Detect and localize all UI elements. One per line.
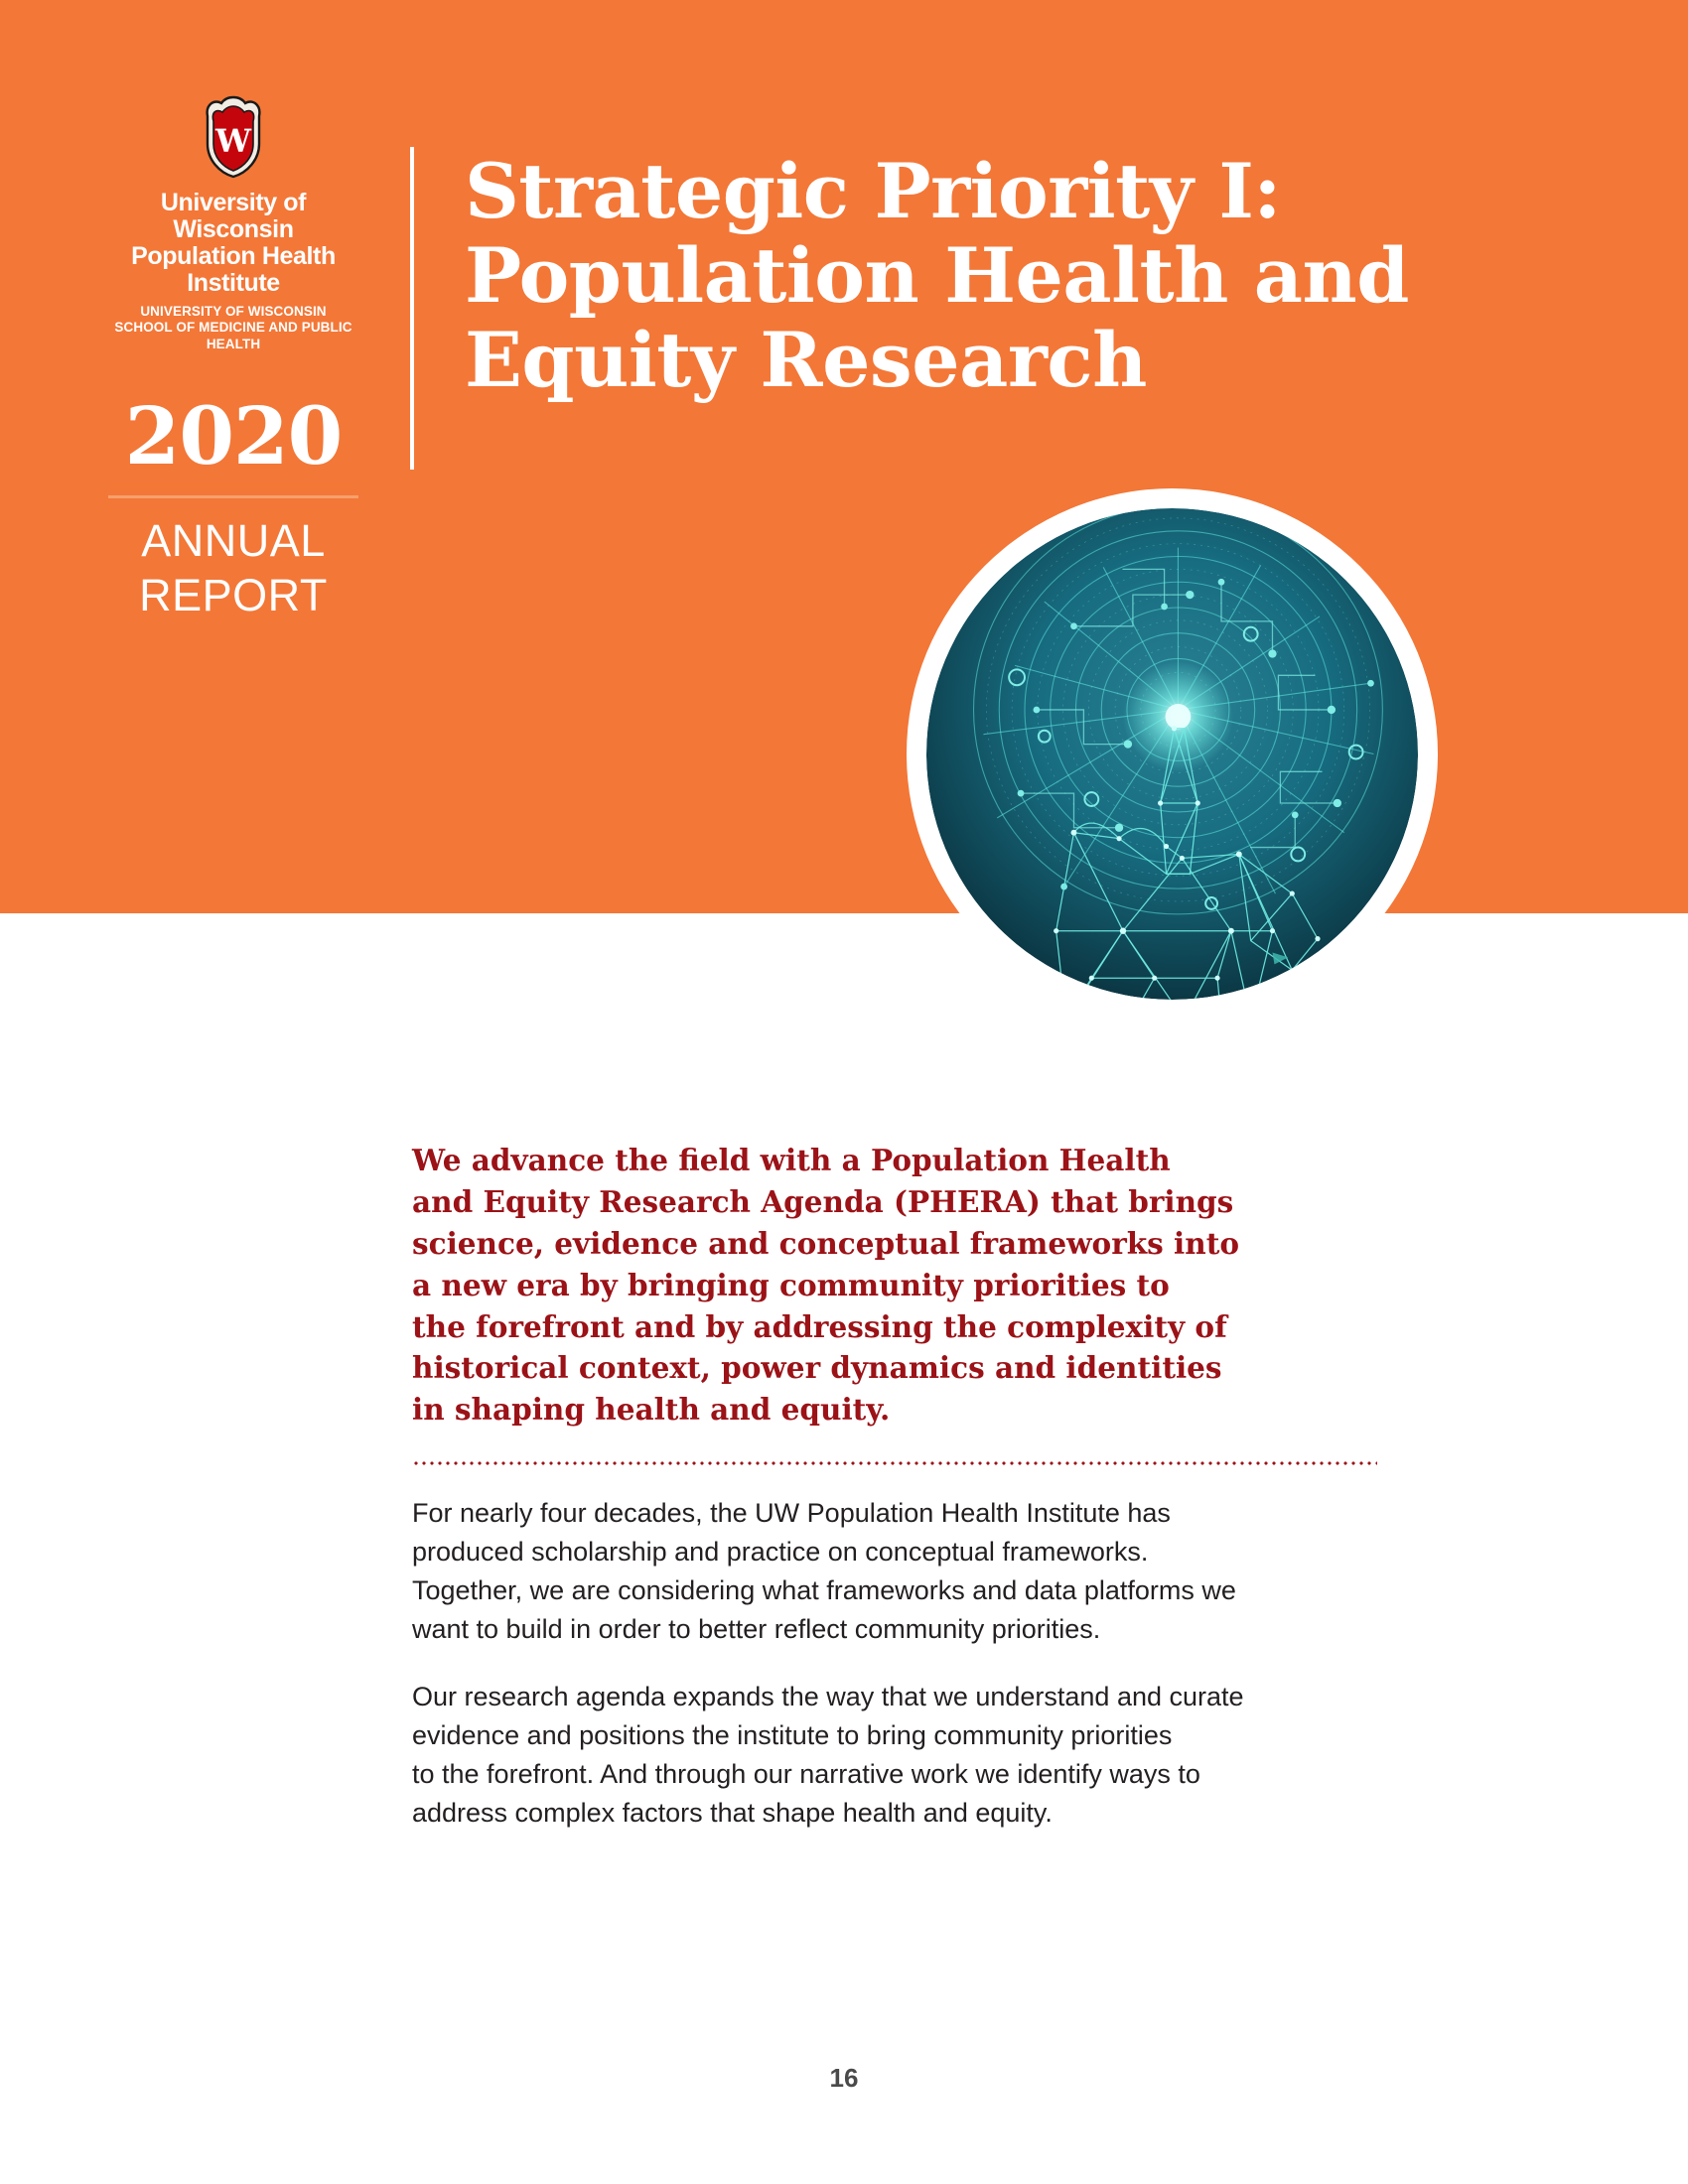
paragraph-1-line-4: want to build in order to better reflect… [412,1610,1370,1649]
pull-quote-line-3: science, evidence and conceptual framewo… [412,1223,1355,1265]
brand-sub-line-1: UNIVERSITY OF WISCONSIN [99,304,367,320]
pull-quote-line-2: and Equity Research Agenda (PHERA) that … [412,1181,1355,1223]
pull-quote-line-5: the forefront and by addressing the comp… [412,1306,1355,1348]
paragraph-1-line-3: Together, we are considering what framew… [412,1571,1370,1610]
page-title-line-1: Strategic Priority I: [465,149,1468,233]
body-paragraph-1: For nearly four decades, the UW Populati… [412,1494,1370,1650]
paragraph-2-line-1: Our research agenda expands the way that… [412,1678,1370,1716]
svg-text:W: W [214,122,252,160]
vertical-divider [410,147,414,470]
pull-quote-line-7: in shaping health and equity. [412,1389,1355,1431]
brand-column: W University of Wisconsin Population Hea… [99,94,367,623]
pull-quote-line-4: a new era by bringing community prioriti… [412,1265,1355,1306]
dotted-divider [412,1461,1377,1465]
annual-report-page: W University of Wisconsin Population Hea… [0,0,1688,2184]
brand-org-line-1: University of Wisconsin [99,190,367,243]
page-title-line-3: Equity Research [465,318,1468,402]
body-paragraph-2: Our research agenda expands the way that… [412,1678,1370,1834]
paragraph-2-line-3: to the forefront. And through our narrat… [412,1755,1370,1794]
paragraph-2-line-2: evidence and positions the institute to … [412,1716,1370,1755]
report-label: REPORT [99,569,367,623]
paragraph-2-line-4: address complex factors that shape healt… [412,1794,1370,1833]
paragraph-1-line-1: For nearly four decades, the UW Populati… [412,1494,1370,1533]
pull-quote-line-1: We advance the field with a Population H… [412,1140,1355,1181]
brand-org-line-2: Population Health Institute [99,243,367,297]
report-year: 2020 [99,396,367,476]
wireframe-hand-pointing-network-globe-image [926,508,1418,1000]
page-title: Strategic Priority I: Population Health … [465,149,1468,402]
uw-crest-shield-icon: W [202,94,265,180]
hero-image-circle [907,488,1438,1020]
brand-sub-line-2: SCHOOL OF MEDICINE AND PUBLIC HEALTH [99,320,367,352]
page-title-line-2: Population Health and [465,233,1468,318]
pull-quote-line-6: historical context, power dynamics and i… [412,1347,1355,1389]
pull-quote: We advance the field with a Population H… [412,1140,1355,1431]
year-divider-rule [108,495,358,498]
page-number: 16 [0,2063,1688,2094]
paragraph-1-line-2: produced scholarship and practice on con… [412,1533,1370,1571]
annual-label: ANNUAL [99,514,367,569]
